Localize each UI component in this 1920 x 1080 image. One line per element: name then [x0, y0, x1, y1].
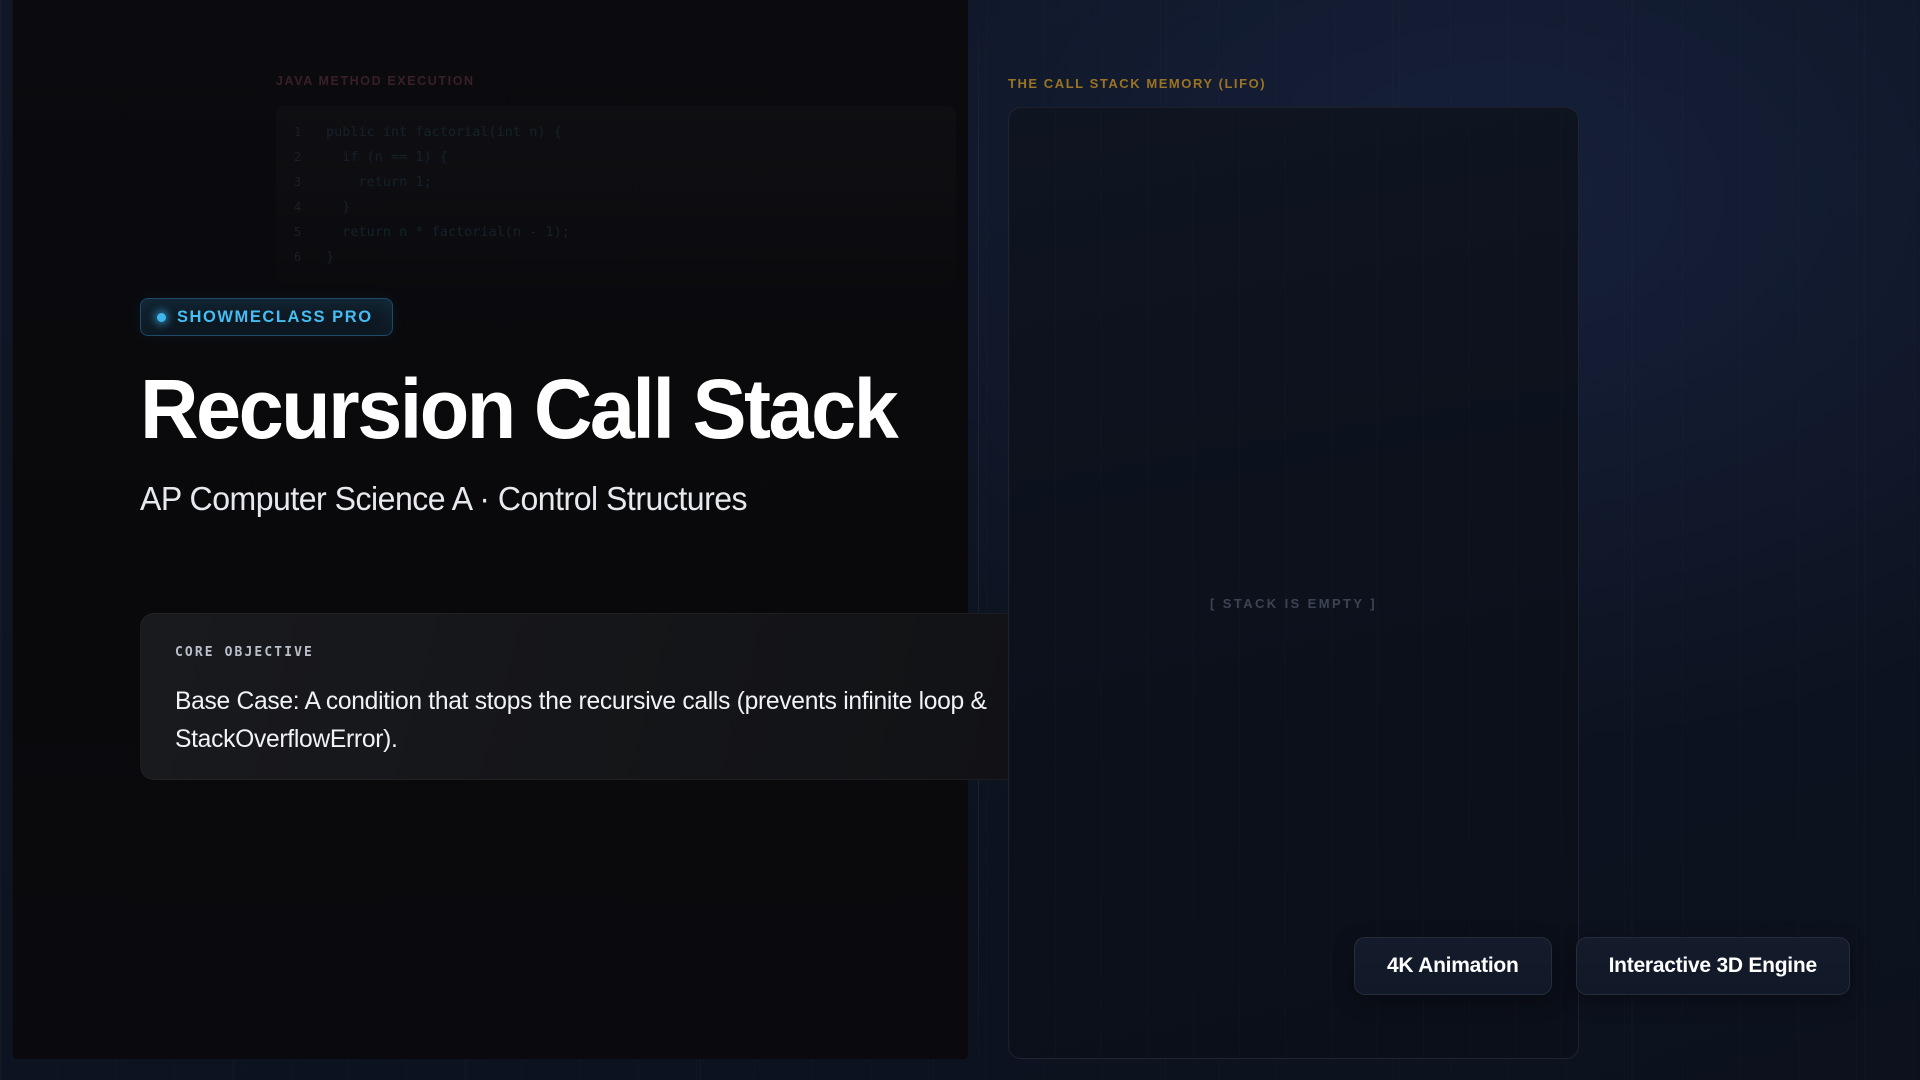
- code-line-text: if (n == 1) {: [326, 145, 448, 170]
- panel-divider: [978, 0, 979, 1080]
- action-button-group: 4K Animation Interactive 3D Engine: [1354, 937, 1850, 995]
- code-line-number: 6: [294, 245, 326, 270]
- call-stack-visualizer[interactable]: [ STACK IS EMPTY ]: [1008, 107, 1579, 1059]
- code-section-label: JAVA METHOD EXECUTION: [276, 74, 956, 88]
- code-line: 4 }: [294, 195, 938, 220]
- code-line: 1 public int factorial(int n) {: [294, 120, 938, 145]
- code-line: 3 return 1;: [294, 170, 938, 195]
- core-objective-card: CORE OBJECTIVE Base Case: A condition th…: [140, 613, 1042, 780]
- code-line-number: 2: [294, 145, 326, 170]
- java-code-section: JAVA METHOD EXECUTION 1 public int facto…: [276, 74, 956, 286]
- code-line-text: }: [326, 245, 334, 270]
- code-line: 2 if (n == 1) {: [294, 145, 938, 170]
- code-line-number: 1: [294, 120, 326, 145]
- page-subtitle: AP Computer Science A · Control Structur…: [140, 480, 1013, 518]
- product-badge-label: SHOWMECLASS PRO: [177, 308, 373, 327]
- code-line-text: return n * factorial(n - 1);: [326, 220, 570, 245]
- panel-left-edge: [12, 0, 13, 1059]
- call-stack-texture: [1009, 108, 1578, 1058]
- 4k-animation-button[interactable]: 4K Animation: [1354, 937, 1552, 995]
- code-line-text: }: [326, 195, 350, 220]
- stack-empty-state: [ STACK IS EMPTY ]: [1009, 596, 1578, 611]
- product-badge[interactable]: SHOWMECLASS PRO: [140, 298, 393, 336]
- interactive-3d-engine-button[interactable]: Interactive 3D Engine: [1576, 937, 1850, 995]
- code-line-number: 5: [294, 220, 326, 245]
- hero-section: SHOWMECLASS PRO Recursion Call Stack AP …: [140, 298, 1040, 518]
- call-stack-label: THE CALL STACK MEMORY (LIFO): [1008, 76, 1266, 91]
- core-objective-text: Base Case: A condition that stops the re…: [175, 682, 995, 758]
- page-title: Recursion Call Stack: [140, 368, 1009, 450]
- code-line-text: return 1;: [326, 170, 432, 195]
- core-objective-label: CORE OBJECTIVE: [175, 645, 1007, 660]
- code-line-text: public int factorial(int n) {: [326, 120, 562, 145]
- code-line: 5 return n * factorial(n - 1);: [294, 220, 938, 245]
- status-dot-icon: [157, 313, 166, 322]
- presentation-slide: JAVA METHOD EXECUTION 1 public int facto…: [0, 0, 1920, 1080]
- code-block: 1 public int factorial(int n) { 2 if (n …: [276, 106, 956, 286]
- code-line-number: 4: [294, 195, 326, 220]
- code-line: 6 }: [294, 245, 938, 270]
- code-line-number: 3: [294, 170, 326, 195]
